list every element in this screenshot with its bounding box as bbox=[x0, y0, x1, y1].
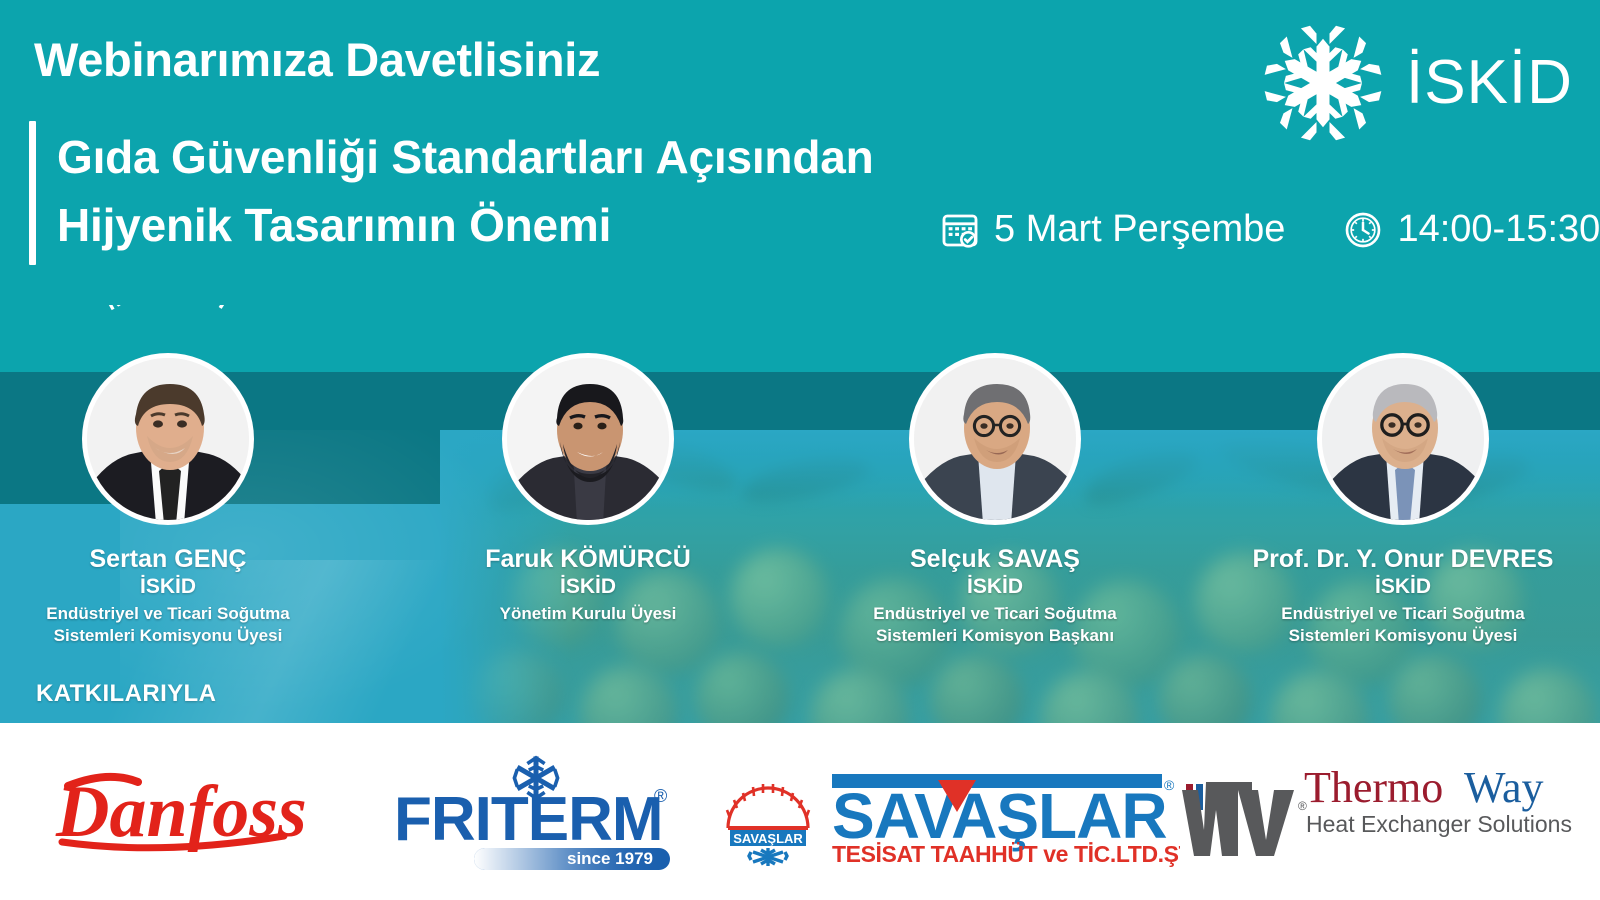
sponsor-strip: Danfoss bbox=[0, 723, 1600, 900]
speaker-name: Faruk KÖMÜRCÜ bbox=[418, 545, 758, 574]
svg-text:SAVAŞLAR: SAVAŞLAR bbox=[733, 831, 803, 846]
event-time-text: 14:00-15:30 bbox=[1397, 208, 1600, 251]
speaker-card: Moderatör bbox=[0, 353, 338, 648]
event-date: 5 Mart Perşembe bbox=[940, 208, 1285, 251]
thermoway-tagline: Heat Exchanger Solutions bbox=[1306, 811, 1572, 837]
speaker-role-line: Yönetim Kurulu Üyesi bbox=[418, 603, 758, 625]
calendar-check-icon bbox=[940, 210, 980, 250]
kicker-text: Webinarımıza Davetlisiniz bbox=[34, 32, 600, 87]
title-line-2: Hijyenik Tasarımın Önemi bbox=[57, 192, 874, 260]
speaker-role-line: Sistemleri Komisyonu Üyesi bbox=[1233, 625, 1573, 647]
event-meta: 5 Mart Perşembe 14:00-15:30 bbox=[940, 208, 1600, 251]
sponsor-logo-thermoway[interactable]: Thermo Way ® Heat Exchanger Solutions bbox=[1180, 760, 1600, 864]
speaker-role-line: Endüstriyel ve Ticari Soğutma bbox=[825, 603, 1165, 625]
registered-mark: ® bbox=[1164, 777, 1175, 793]
speaker-role: Endüstriyel ve Ticari Soğutma Sistemleri… bbox=[0, 603, 338, 648]
speaker-card: Faruk KÖMÜRCÜ İSKİD Yönetim Kurulu Üyesi bbox=[418, 353, 758, 625]
speaker-org: İSKİD bbox=[418, 575, 758, 599]
iskid-wordmark: İSKİD bbox=[1406, 52, 1573, 114]
event-date-text: 5 Mart Perşembe bbox=[994, 208, 1285, 251]
speaker-role-line: Sistemleri Komisyon Başkanı bbox=[825, 625, 1165, 647]
page-title: Gıda Güvenliği Standartları Açısından Hi… bbox=[57, 124, 874, 259]
thermoway-wordmark-a: Thermo bbox=[1304, 763, 1443, 812]
speaker-name: Sertan GENÇ bbox=[0, 545, 338, 574]
speaker-org: İSKİD bbox=[0, 575, 338, 599]
thermoway-wordmark-b: Way bbox=[1464, 763, 1544, 812]
title-accent-bar bbox=[29, 121, 36, 265]
speaker-role: Yönetim Kurulu Üyesi bbox=[418, 603, 758, 625]
thermoway-mark bbox=[1238, 790, 1294, 856]
sponsor-logo-savaslar[interactable]: SAVAŞLAR SAVAŞLAR ® TESİSAT bbox=[710, 756, 1180, 868]
speaker-card: Prof. Dr. Y. Onur DEVRES İSKİD Endüstriy… bbox=[1233, 353, 1573, 648]
sponsor-logo-friterm[interactable]: FRITERM ® since 1979 bbox=[355, 752, 710, 872]
sponsor-logo-danfoss[interactable]: Danfoss bbox=[0, 762, 355, 862]
speaker-role-line: Sistemleri Komisyonu Üyesi bbox=[0, 625, 338, 647]
webinar-poster: Webinarımıza Davetlisiniz Gıda Güvenliği… bbox=[0, 0, 1600, 900]
title-line-1: Gıda Güvenliği Standartları Açısından bbox=[57, 124, 874, 192]
speaker-card: Selçuk SAVAŞ İSKİD Endüstriyel ve Ticari… bbox=[825, 353, 1165, 648]
speaker-org: İSKİD bbox=[1233, 575, 1573, 599]
speaker-role-line: Endüstriyel ve Ticari Soğutma bbox=[0, 603, 338, 625]
clock-icon bbox=[1343, 210, 1383, 250]
event-time: 14:00-15:30 bbox=[1343, 208, 1600, 251]
avatar bbox=[909, 353, 1081, 525]
iskid-logo: İSKİD bbox=[1258, 18, 1573, 148]
avatar bbox=[1317, 353, 1489, 525]
speaker-org: İSKİD bbox=[825, 575, 1165, 599]
savaslar-tagline: TESİSAT TAAHHÜT ve TİC.LTD.ŞTİ. bbox=[832, 841, 1180, 867]
friterm-tagline: since 1979 bbox=[566, 849, 652, 868]
avatar bbox=[502, 353, 674, 525]
friterm-wordmark: FRITERM bbox=[394, 785, 663, 854]
speaker-role: Endüstriyel ve Ticari Soğutma Sistemleri… bbox=[1233, 603, 1573, 648]
avatar: Moderatör bbox=[82, 353, 254, 525]
speaker-role-line: Endüstriyel ve Ticari Soğutma bbox=[1233, 603, 1573, 625]
contributors-label: KATKILARIYLA bbox=[36, 680, 216, 708]
speaker-role: Endüstriyel ve Ticari Soğutma Sistemleri… bbox=[825, 603, 1165, 648]
speaker-name: Prof. Dr. Y. Onur DEVRES bbox=[1233, 545, 1573, 574]
registered-mark: ® bbox=[654, 786, 667, 806]
speaker-name: Selçuk SAVAŞ bbox=[825, 545, 1165, 574]
snowflake-icon bbox=[1258, 18, 1388, 148]
